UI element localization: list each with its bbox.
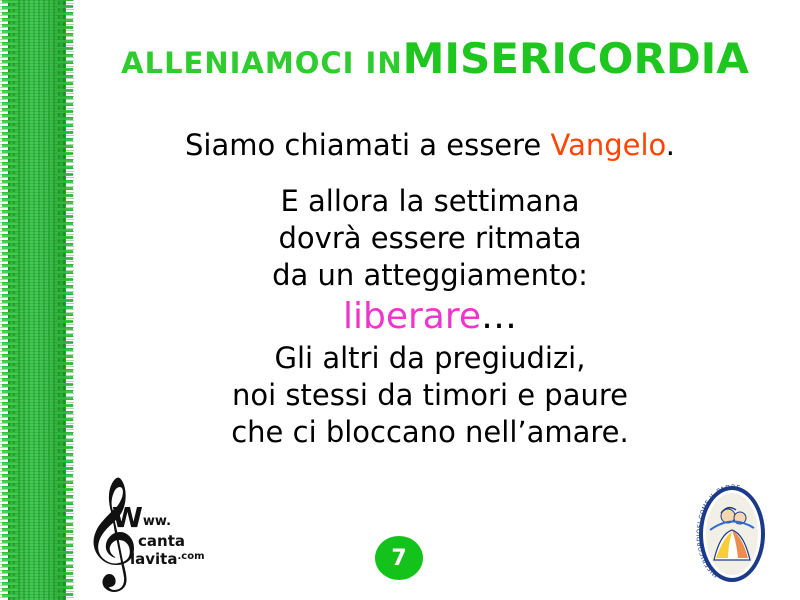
stanza-a-line-2: dovrà essere ritmata xyxy=(80,220,780,257)
slide-body: Siamo chiamati a essere Vangelo. E allor… xyxy=(80,125,780,451)
keyword-ellipsis: … xyxy=(481,296,517,337)
slide-title: ALLENIAMOCI INMISERICORDIA xyxy=(90,34,780,83)
stanza-b-line-3: che ci bloccano nell’amare. xyxy=(80,414,780,451)
stanza-a: E allora la settimana dovrà essere ritma… xyxy=(80,183,780,294)
page-number: 7 xyxy=(391,546,406,571)
keyword-line: liberare… xyxy=(80,294,780,340)
body-line-1-suffix: . xyxy=(666,128,675,162)
title-big-part: MISERICORDIA xyxy=(403,34,749,83)
stanza-a-line-1: E allora la settimana xyxy=(80,183,780,220)
jubilee-logo: MISERICORDIOSI COME IL PADRE xyxy=(680,482,784,586)
wcantalavita-logo[interactable]: 𝄞 Www. canta lavita.com xyxy=(82,483,212,583)
stanza-b-line-2: noi stessi da timori e paure xyxy=(80,377,780,414)
stanza-b-line-1: Gli altri da pregiudizi, xyxy=(80,340,780,377)
watermark-canta: canta xyxy=(138,534,205,549)
jubilee-logo-icon: MISERICORDIOSI COME IL PADRE xyxy=(680,482,784,586)
stanza-a-line-3: da un atteggiamento: xyxy=(80,257,780,294)
watermark-text: Www. canta lavita.com xyxy=(112,501,205,567)
keyword-liberare: liberare xyxy=(343,296,481,337)
slide-canvas: ALLENIAMOCI INMISERICORDIA Siamo chiamat… xyxy=(0,0,800,600)
title-small-part: ALLENIAMOCI IN xyxy=(121,46,402,80)
body-line-1-prefix: Siamo chiamati a essere xyxy=(185,128,551,162)
watermark-ww: ww. xyxy=(143,514,171,529)
left-green-band xyxy=(8,0,66,600)
watermark-w: W xyxy=(112,501,143,534)
body-line-1: Siamo chiamati a essere Vangelo. xyxy=(80,125,780,165)
stanza-b: Gli altri da pregiudizi, noi stessi da t… xyxy=(80,340,780,451)
watermark-lavita: lavita.com xyxy=(130,549,205,567)
watermark-dotcom: .com xyxy=(177,551,204,562)
page-number-badge: 7 xyxy=(375,536,423,580)
body-line-1-accent: Vangelo xyxy=(551,128,666,162)
